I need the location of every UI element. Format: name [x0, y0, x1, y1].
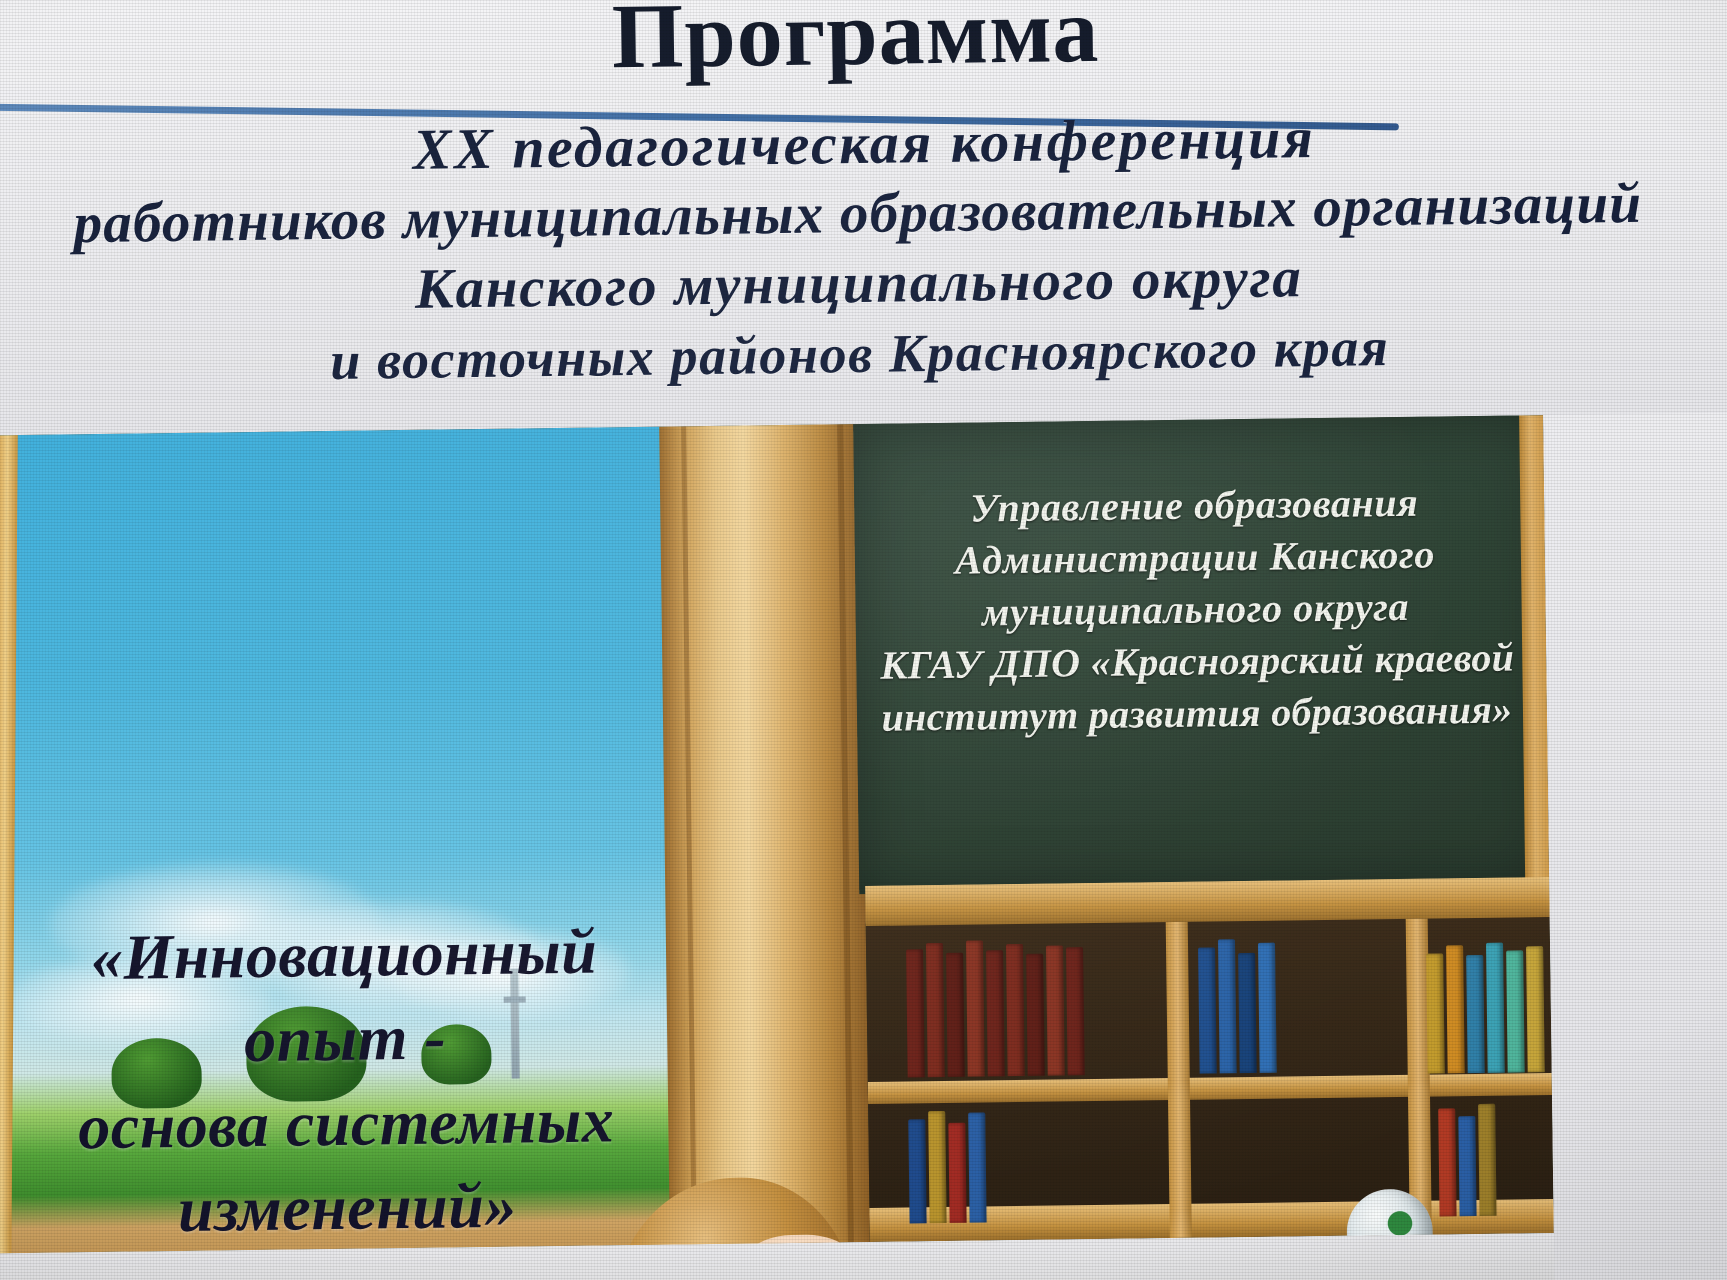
shelf-divider	[1166, 922, 1192, 1238]
presentation-screenshot: Программа XX педагогическая конференция …	[0, 0, 1727, 1280]
slide-canvas: Программа XX педагогическая конференция …	[0, 0, 1727, 1280]
quote-line-1: «Инновационный	[4, 908, 685, 1001]
organizer-line-3: муниципального округа	[879, 580, 1512, 640]
books-icon	[908, 1102, 987, 1223]
wood-pillar	[659, 424, 870, 1245]
quote-line-4: изменений»	[7, 1162, 688, 1254]
books-icon	[1426, 937, 1545, 1074]
subtitle-line-4: и восточных районов Красноярского края	[0, 316, 1727, 394]
organizer-line-2: Администрации Канского	[879, 528, 1512, 588]
slide-header: Программа XX педагогическая конференция …	[0, 0, 1727, 455]
organizer-credits: Управление образования Администрации Кан…	[878, 476, 1513, 744]
bookshelf	[865, 877, 1554, 1242]
classroom-photo: Управление образования Администрации Кан…	[0, 415, 1554, 1253]
conference-subtitle: XX педагогическая конференция работников…	[0, 103, 1727, 394]
organizer-line-5: институт развития образования»	[881, 684, 1514, 744]
organizer-line-1: Управление образования	[878, 476, 1511, 536]
subtitle-line-3: Канского муниципального округа	[0, 244, 1727, 325]
chalkboard: Управление образования Администрации Кан…	[853, 415, 1549, 894]
books-icon	[1198, 933, 1277, 1074]
conference-theme-quote: «Инновационный опыт - основа системных и…	[4, 908, 688, 1253]
shelf-plank	[865, 877, 1549, 926]
organizer-line-4: КГАУ ДПО «Красноярский краевой	[880, 632, 1513, 692]
books-icon	[906, 935, 1085, 1077]
subtitle-line-2: работников муниципальных образовательных…	[0, 174, 1727, 255]
page-title: Программа	[0, 0, 1727, 98]
quote-line-2: опыт -	[5, 993, 686, 1086]
books-icon	[1438, 1096, 1497, 1217]
quote-line-3: основа системных	[6, 1077, 687, 1170]
slide-right-margin	[1543, 413, 1727, 1280]
subtitle-line-1: XX педагогическая конференция	[0, 103, 1727, 185]
